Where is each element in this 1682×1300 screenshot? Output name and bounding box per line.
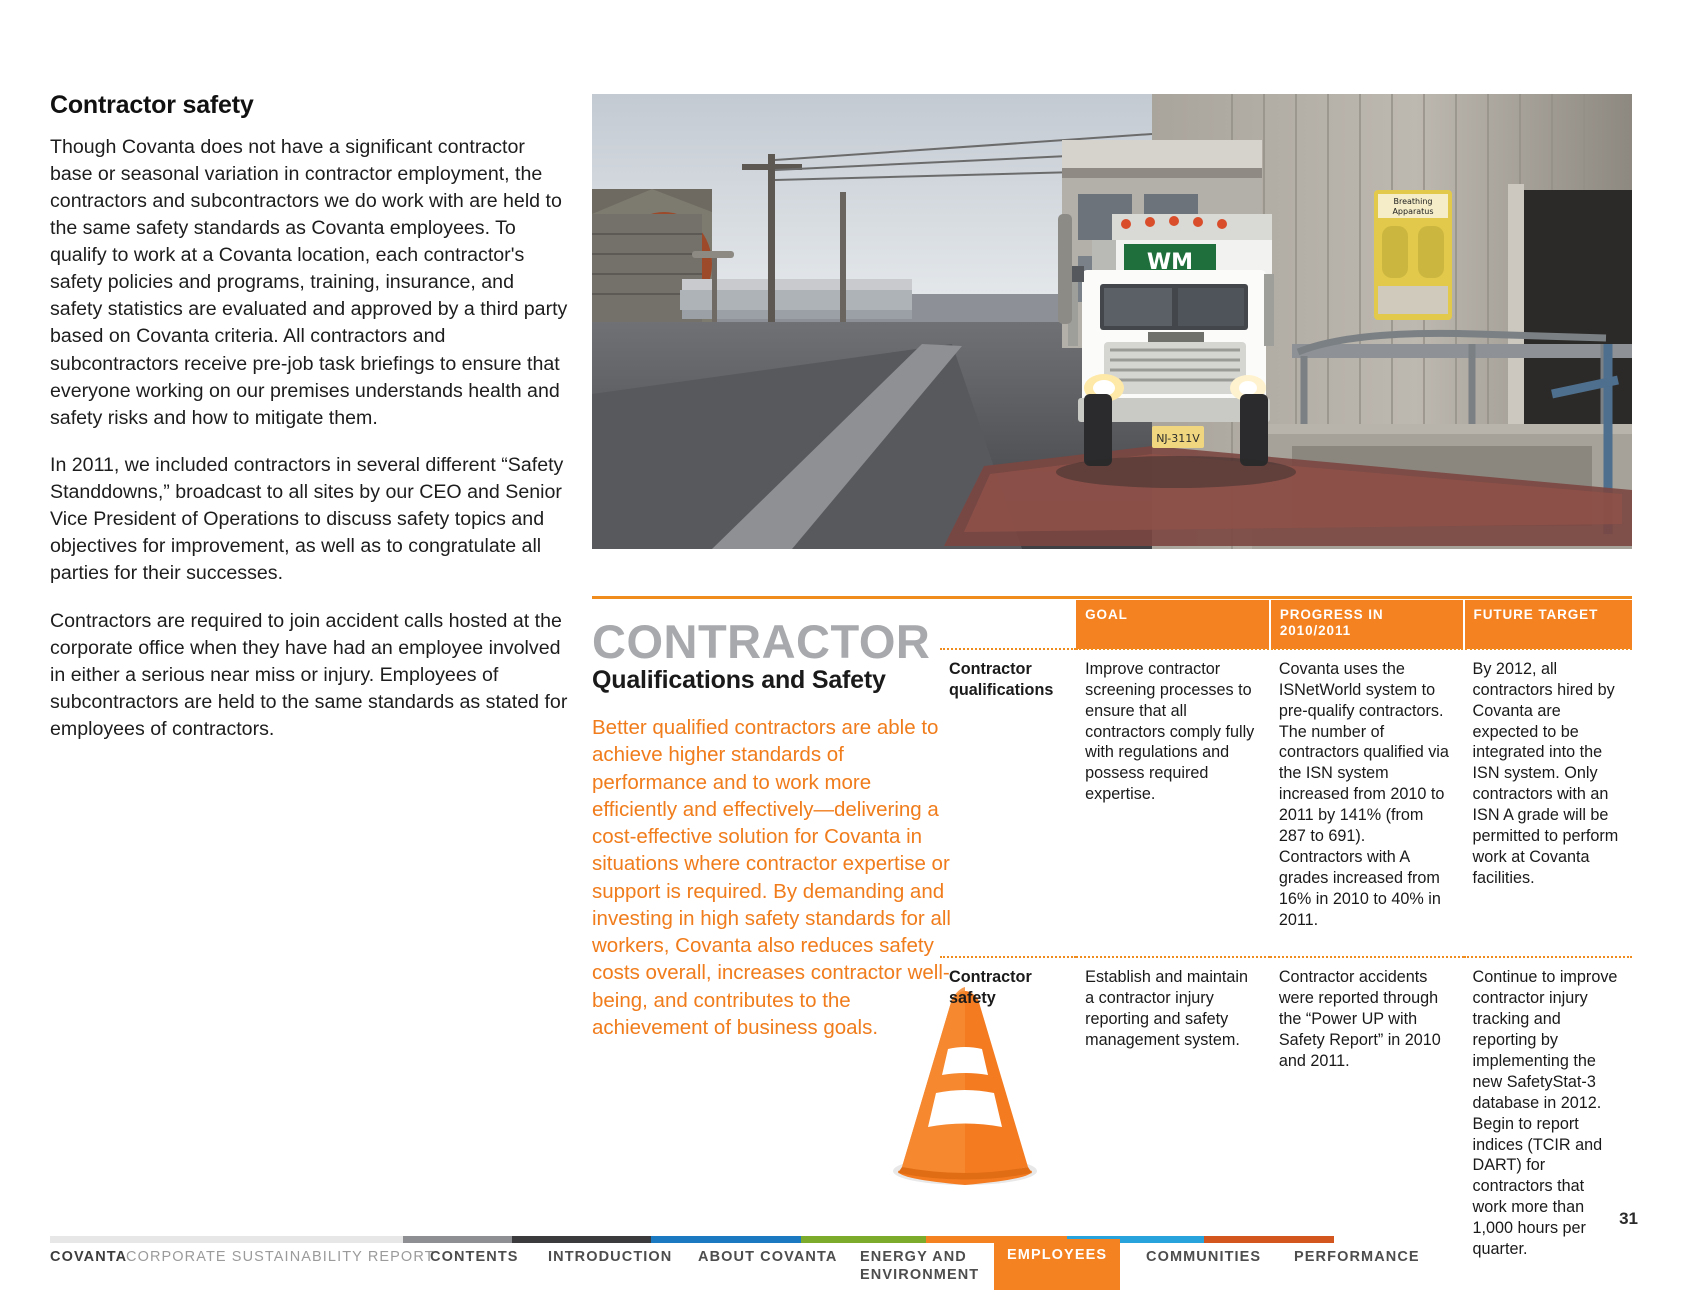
table-row: Contractor safety Establish and maintain… — [940, 957, 1632, 1265]
photo-illustration: Breathing Apparatus — [592, 94, 1632, 549]
footer-bar-about-covanta[interactable] — [651, 1236, 801, 1243]
footer-nav-employees[interactable]: EMPLOYEES — [994, 1239, 1120, 1290]
cell-future-1: By 2012, all contractors hired by Covant… — [1464, 649, 1632, 958]
footer-nav-introduction[interactable]: INTRODUCTION — [548, 1248, 672, 1266]
footer-color-bars — [50, 1236, 1334, 1243]
body-paragraph-1: Though Covanta does not have a significa… — [50, 134, 570, 432]
footer-nav-contents[interactable]: CONTENTS — [430, 1248, 519, 1266]
footer-nav-about-covanta[interactable]: ABOUT COVANTA — [698, 1248, 837, 1266]
table-header-future-target: FUTURE TARGET — [1464, 600, 1632, 649]
cell-progress-2: Contractor accidents were reported throu… — [1270, 957, 1464, 1265]
page-number: 31 — [1619, 1209, 1638, 1229]
footer-nav-performance[interactable]: PERFORMANCE — [1294, 1248, 1420, 1266]
row-label-contractor-qualifications: Contractor qualifications — [940, 649, 1076, 958]
cell-future-2: Continue to improve contractor injury tr… — [1464, 957, 1632, 1265]
callout-subtitle: Qualifications and Safety — [592, 667, 952, 695]
cell-goal-1: Improve contractor screening processes t… — [1076, 649, 1270, 958]
table-header-blank — [940, 600, 1076, 649]
panel-top-rule — [592, 596, 1632, 599]
svg-text:Apparatus: Apparatus — [1392, 207, 1433, 216]
footer-bar-introduction[interactable] — [512, 1236, 651, 1243]
body-paragraph-2: In 2011, we included contractors in seve… — [50, 452, 570, 588]
callout-kicker: CONTRACTOR — [592, 620, 952, 665]
footer-bar-performance[interactable] — [1204, 1236, 1334, 1243]
footer-bar-lead — [50, 1236, 403, 1243]
facility-truck-photo: Breathing Apparatus — [592, 94, 1632, 549]
footer-navigation: COVANTA CORPORATE SUSTAINABILITY REPORT … — [50, 1248, 1350, 1288]
cell-goal-2: Establish and maintain a contractor inju… — [1076, 957, 1270, 1265]
table-header-row: GOAL PROGRESS IN 2010/2011 FUTURE TARGET — [940, 600, 1632, 649]
table-header-progress: PROGRESS IN 2010/2011 — [1270, 600, 1464, 649]
svg-text:Breathing: Breathing — [1393, 197, 1432, 206]
svg-text:NJ-311V: NJ-311V — [1156, 432, 1200, 445]
footer-bar-energy-and-environment[interactable] — [801, 1236, 925, 1243]
footer-nav-energy-and-environment[interactable]: ENERGY AND ENVIRONMENT — [860, 1248, 979, 1284]
truck-graphic: WM — [1056, 214, 1296, 488]
body-paragraph-3: Contractors are required to join acciden… — [50, 608, 570, 744]
goals-progress-table: GOAL PROGRESS IN 2010/2011 FUTURE TARGET… — [940, 600, 1632, 1266]
footer-brand: COVANTA — [50, 1248, 127, 1266]
document-page: Contractor safety Though Covanta does no… — [0, 0, 1682, 1300]
cell-progress-1: Covanta uses the ISNetWorld system to pr… — [1270, 649, 1464, 958]
footer-bar-contents[interactable] — [403, 1236, 512, 1243]
table-header-goal: GOAL — [1076, 600, 1270, 649]
left-text-column: Contractor safety Though Covanta does no… — [50, 92, 570, 743]
footer-nav-communities[interactable]: COMMUNITIES — [1146, 1248, 1261, 1266]
footer-report-title: CORPORATE SUSTAINABILITY REPORT — [126, 1248, 435, 1266]
row-label-contractor-safety: Contractor safety — [940, 957, 1076, 1265]
page-title: Contractor safety — [50, 92, 570, 120]
table-row: Contractor qualifications Improve contra… — [940, 649, 1632, 958]
